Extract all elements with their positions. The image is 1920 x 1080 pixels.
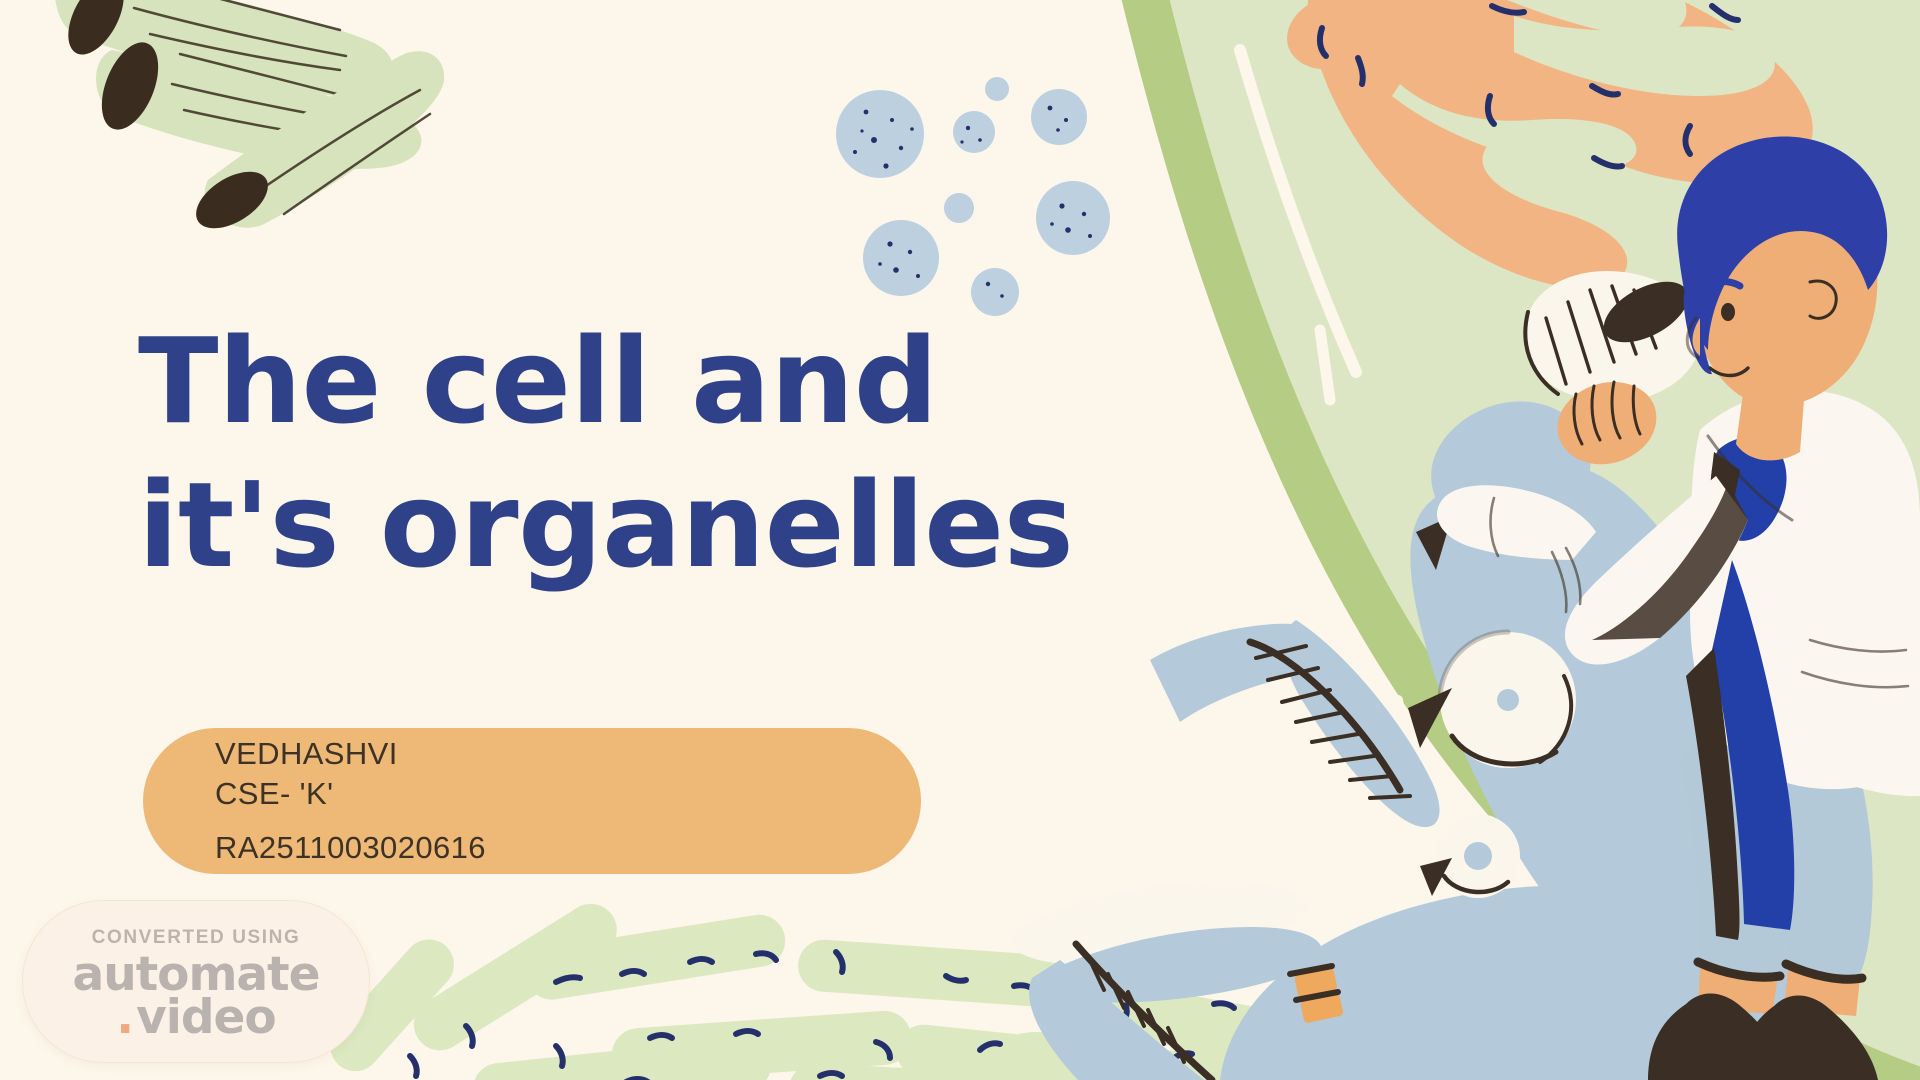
author-info-pill: VEDHASHVI CSE- 'K' RA2511003020616 <box>143 728 921 874</box>
slide-title: The cell and it's organelles <box>138 310 1198 598</box>
coarse-knob-center <box>1497 689 1519 711</box>
author-name: VEDHASHVI <box>215 734 921 774</box>
scientist-eye <box>1721 303 1735 321</box>
coarse-focus-knob <box>1440 632 1576 768</box>
watermark-domain: video <box>136 994 276 1041</box>
fine-focus-knob <box>1436 814 1520 898</box>
title-line-1: The cell and <box>138 310 1198 454</box>
watermark-domain-row: . video <box>116 994 275 1041</box>
automate-video-watermark[interactable]: CONVERTED USING automate . video <box>22 900 370 1063</box>
author-section: CSE- 'K' <box>215 774 921 814</box>
title-line-2: it's organelles <box>138 454 1198 598</box>
microscope-stage-arm-upper <box>1150 620 1440 827</box>
fine-knob-center <box>1464 842 1492 870</box>
watermark-caption: CONVERTED USING <box>92 927 301 949</box>
watermark-dot: . <box>116 994 134 1041</box>
presentation-slide: The cell and it's organelles VEDHASHVI C… <box>0 0 1920 1080</box>
author-register-number: RA2511003020616 <box>215 828 921 868</box>
